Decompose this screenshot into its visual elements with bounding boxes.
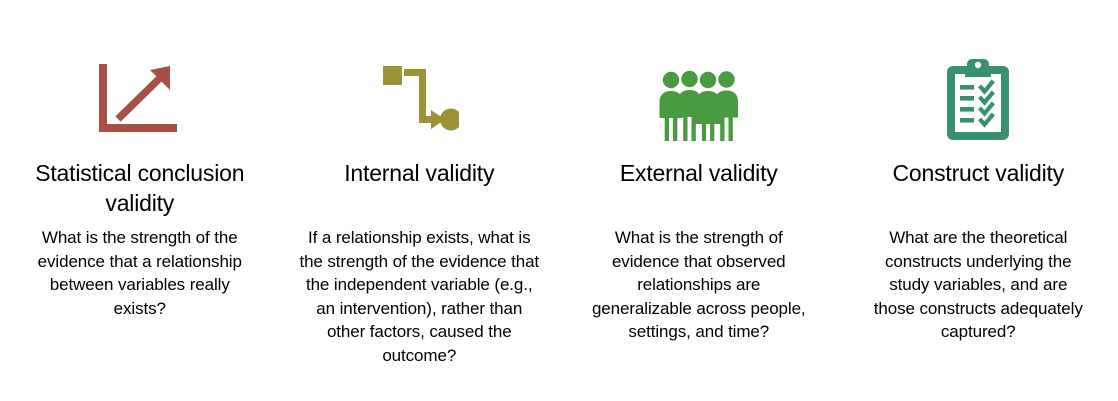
card-external-validity: External validity What is the strength o… <box>559 0 839 344</box>
icon-container-internal-validity <box>379 52 459 142</box>
card-construct-validity: Construct validity What are the theoreti… <box>839 0 1118 344</box>
heading-container-internal-validity: Internal validity <box>294 158 546 222</box>
body-container-internal-validity: If a relationship exists, what is the st… <box>294 226 546 367</box>
heading-container-statistical-conclusion-validity: Statistical conclusion validity <box>14 158 266 222</box>
heading-container-external-validity: External validity <box>573 158 825 222</box>
card-body-text: What is the strength of evidence that ob… <box>573 226 825 344</box>
card-heading: Statistical conclusion validity <box>14 158 266 218</box>
icon-container-statistical-conclusion-validity <box>94 52 186 142</box>
clipboard-checklist-icon <box>945 58 1011 142</box>
body-container-statistical-conclusion-validity: What is the strength of the evidence tha… <box>14 226 266 320</box>
card-body-text: What is the strength of the evidence tha… <box>14 226 266 320</box>
icon-container-construct-validity <box>945 52 1011 142</box>
card-heading: Construct validity <box>853 158 1105 188</box>
flowchart-square-to-circle-arrow-icon <box>379 62 459 142</box>
body-container-construct-validity: What are the theoretical constructs unde… <box>853 226 1105 344</box>
group-of-people-icon <box>657 70 741 142</box>
icon-container-external-validity <box>657 52 741 142</box>
validity-types-board: Statistical conclusion validity What is … <box>0 0 1118 401</box>
line-chart-up-arrow-icon <box>94 62 186 142</box>
body-container-external-validity: What is the strength of evidence that ob… <box>573 226 825 344</box>
card-body-text: If a relationship exists, what is the st… <box>294 226 546 367</box>
card-heading: External validity <box>573 158 825 188</box>
card-body-text: What are the theoretical constructs unde… <box>853 226 1105 344</box>
card-statistical-conclusion-validity: Statistical conclusion validity What is … <box>0 0 280 320</box>
card-heading: Internal validity <box>294 158 546 188</box>
card-internal-validity: Internal validity If a relationship exis… <box>280 0 560 367</box>
heading-container-construct-validity: Construct validity <box>853 158 1105 222</box>
